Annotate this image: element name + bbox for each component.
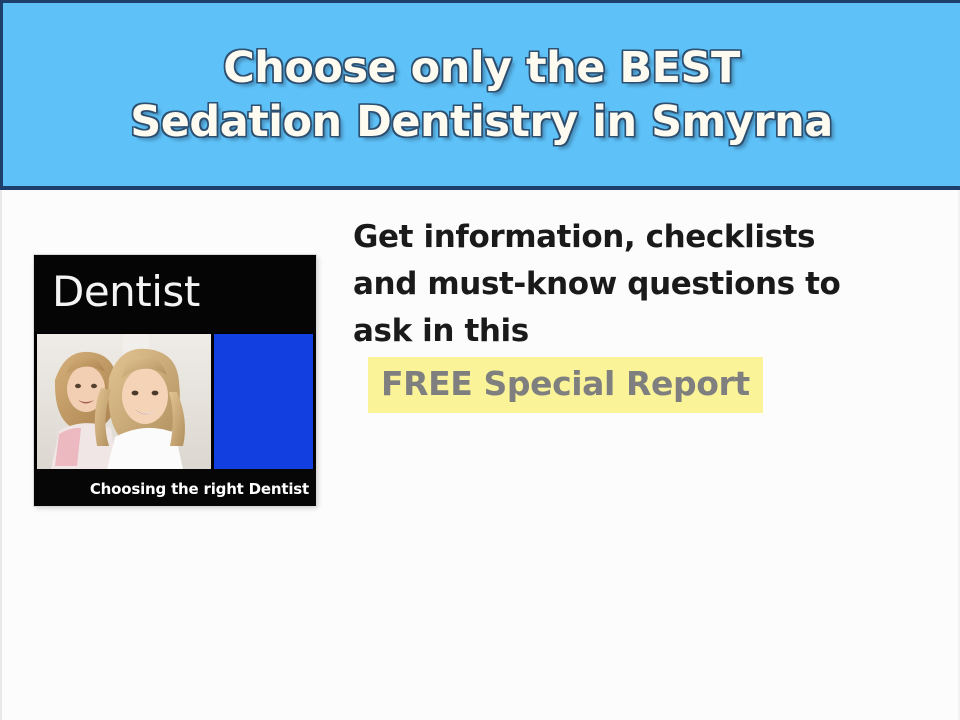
body-line-3: ask in this xyxy=(353,308,925,355)
free-report-highlight-wrap: FREE Special Report xyxy=(368,357,763,413)
headline-banner: Choose only the BEST Sedation Dentistry … xyxy=(0,0,960,190)
slide-canvas: Choose only the BEST Sedation Dentistry … xyxy=(0,0,960,720)
body-line-1: Get information, checklists xyxy=(353,214,925,261)
cover-title: Dentist xyxy=(52,267,200,317)
body-copy: Get information, checklists and must-kno… xyxy=(353,214,925,355)
headline-line-1: Choose only the BEST xyxy=(223,42,740,94)
cover-photo xyxy=(37,334,211,469)
body-line-2: and must-know questions to xyxy=(353,261,925,308)
mother-daughter-photo-icon xyxy=(37,334,211,469)
cover-accent-block xyxy=(214,334,313,469)
cover-caption: Choosing the right Dentist xyxy=(90,480,309,498)
headline-line-2: Sedation Dentistry in Smyrna xyxy=(130,96,832,148)
report-cover-image: Dentist xyxy=(34,255,316,506)
free-report-highlight: FREE Special Report xyxy=(368,357,763,413)
